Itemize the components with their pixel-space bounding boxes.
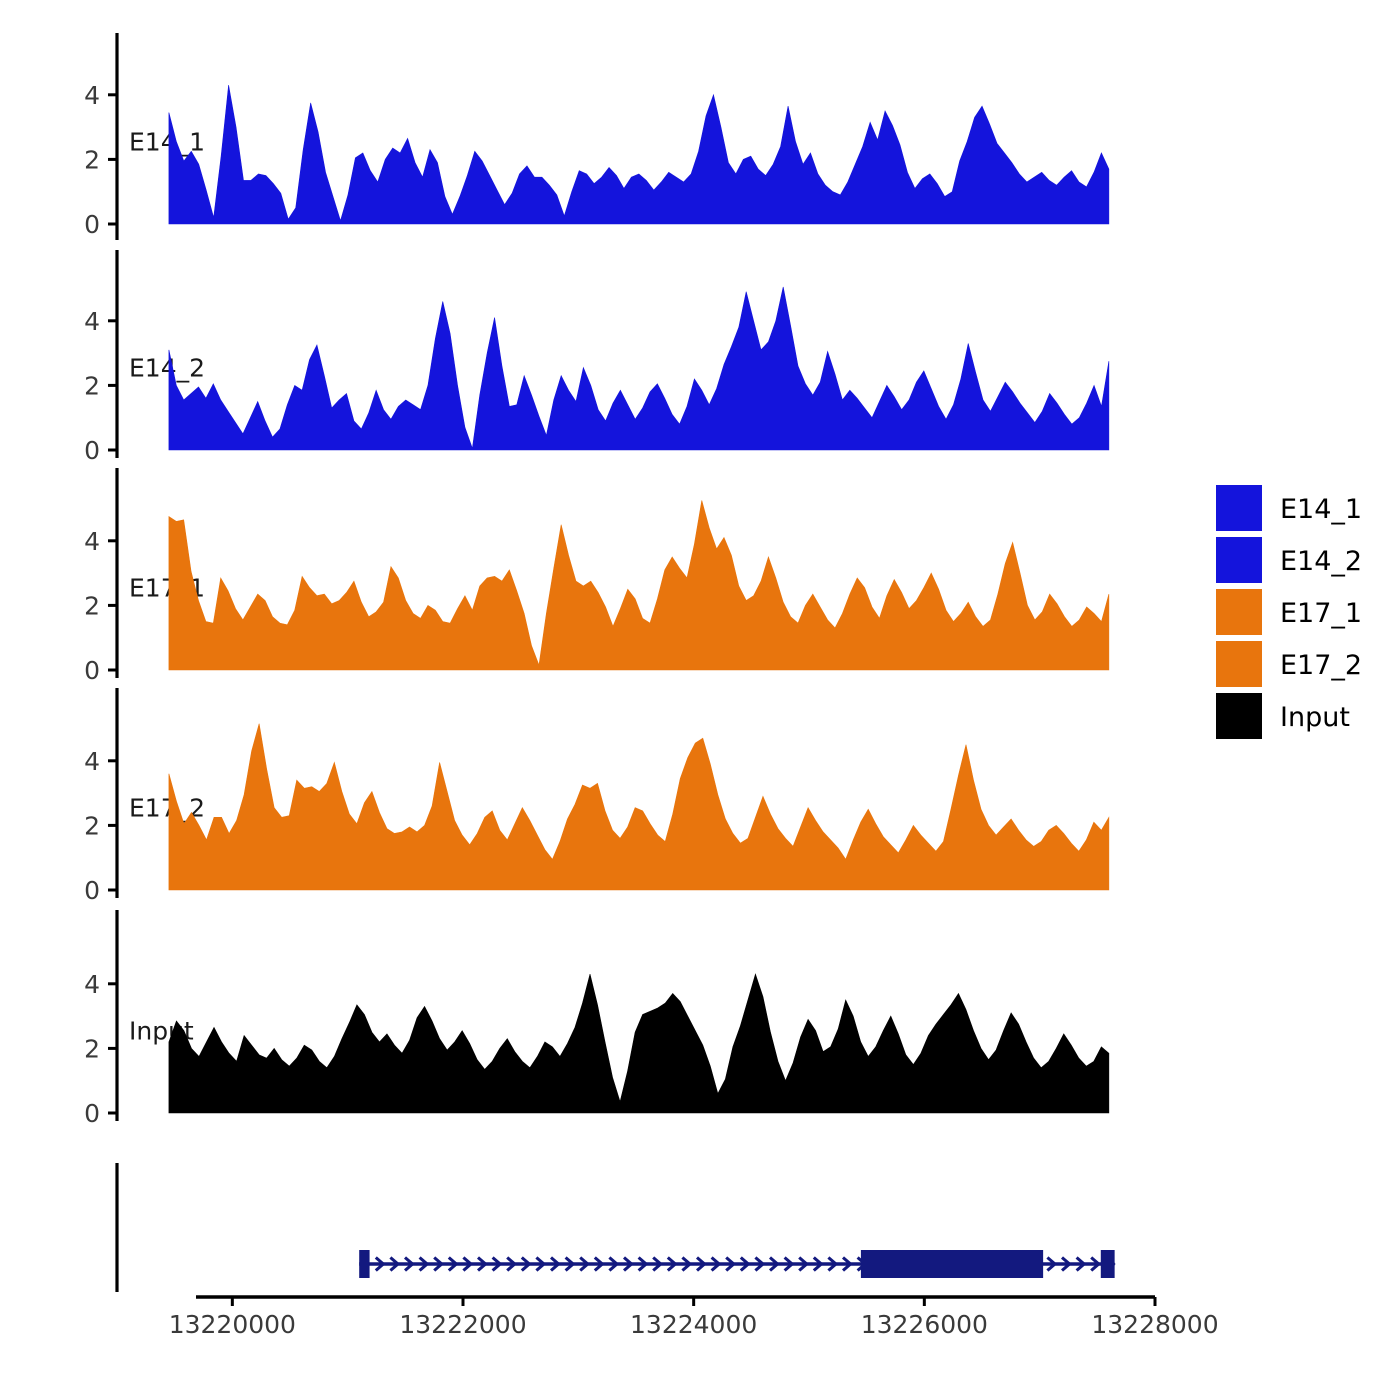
y-tick-label: 0	[84, 1099, 100, 1128]
legend-label: E17_2	[1280, 650, 1362, 681]
legend-swatch	[1216, 641, 1262, 687]
x-tick-label: 13228000	[1091, 1310, 1218, 1339]
y-tick-label: 0	[84, 436, 100, 465]
track-label-e14_1: E14_1	[129, 128, 205, 157]
y-tick-label: 2	[84, 371, 100, 400]
y-tick-label: 4	[84, 307, 100, 336]
x-tick-label: 13224000	[630, 1310, 757, 1339]
y-tick-label: 4	[84, 970, 100, 999]
legend-label: E14_2	[1280, 546, 1362, 577]
y-tick-label: 2	[84, 145, 100, 174]
figure-root: 024E14_1024E14_2024E17_1024E17_2024Input…	[0, 0, 1400, 1400]
track-panel-e17_2: 024E17_2	[84, 688, 1109, 905]
track-panel-input: 024Input	[84, 910, 1109, 1128]
y-tick-label: 2	[84, 811, 100, 840]
track-label-e14_2: E14_2	[129, 354, 205, 383]
legend-label: E14_1	[1280, 494, 1362, 525]
gene-exon-2	[861, 1250, 1043, 1278]
legend-swatch	[1216, 485, 1262, 531]
legend-item-input[interactable]: Input	[1216, 693, 1350, 739]
y-tick-label: 2	[84, 591, 100, 620]
signal-area-e17_1	[169, 500, 1109, 670]
y-tick-label: 0	[84, 656, 100, 685]
gene-model-smok2a[interactable]	[359, 1250, 1114, 1278]
y-tick-label: 4	[84, 527, 100, 556]
signal-area-e17_2	[169, 724, 1109, 890]
signal-area-input	[169, 974, 1109, 1113]
y-tick-label: 4	[84, 81, 100, 110]
genome-browser-figure: 024E14_1024E14_2024E17_1024E17_2024Input…	[0, 0, 1400, 1400]
track-panel-e14_2: 024E14_2	[84, 250, 1109, 465]
legend-swatch	[1216, 537, 1262, 583]
x-tick-label: 13226000	[861, 1310, 988, 1339]
legend-item-e14_1[interactable]: E14_1	[1216, 485, 1362, 531]
x-tick-label: 13220000	[169, 1310, 296, 1339]
legend-item-e17_1[interactable]: E17_1	[1216, 589, 1362, 635]
legend-label: Input	[1280, 702, 1350, 733]
gene-exon-1	[359, 1250, 369, 1278]
y-tick-label: 2	[84, 1034, 100, 1063]
track-panel-e14_1: 024E14_1	[84, 33, 1109, 240]
x-tick-label: 13222000	[399, 1310, 526, 1339]
signal-area-e14_1	[169, 85, 1109, 224]
legend-swatch	[1216, 589, 1262, 635]
legend: E14_1E14_2E17_1E17_2Input	[1216, 485, 1362, 739]
legend-item-e14_2[interactable]: E14_2	[1216, 537, 1362, 583]
track-panel-e17_1: 024E17_1	[84, 468, 1109, 685]
legend-label: E17_1	[1280, 598, 1362, 629]
signal-area-e14_2	[169, 287, 1109, 450]
gene-exon-3	[1101, 1250, 1115, 1278]
y-tick-label: 0	[84, 210, 100, 239]
y-tick-label: 4	[84, 747, 100, 776]
x-axis: 1322000013222000132240001322600013228000	[169, 1297, 1219, 1339]
y-tick-label: 0	[84, 876, 100, 905]
genes-panel	[117, 1163, 1115, 1292]
legend-item-e17_2[interactable]: E17_2	[1216, 641, 1362, 687]
track-panels: 024E14_1024E14_2024E17_1024E17_2024Input	[84, 33, 1109, 1128]
legend-swatch	[1216, 693, 1262, 739]
